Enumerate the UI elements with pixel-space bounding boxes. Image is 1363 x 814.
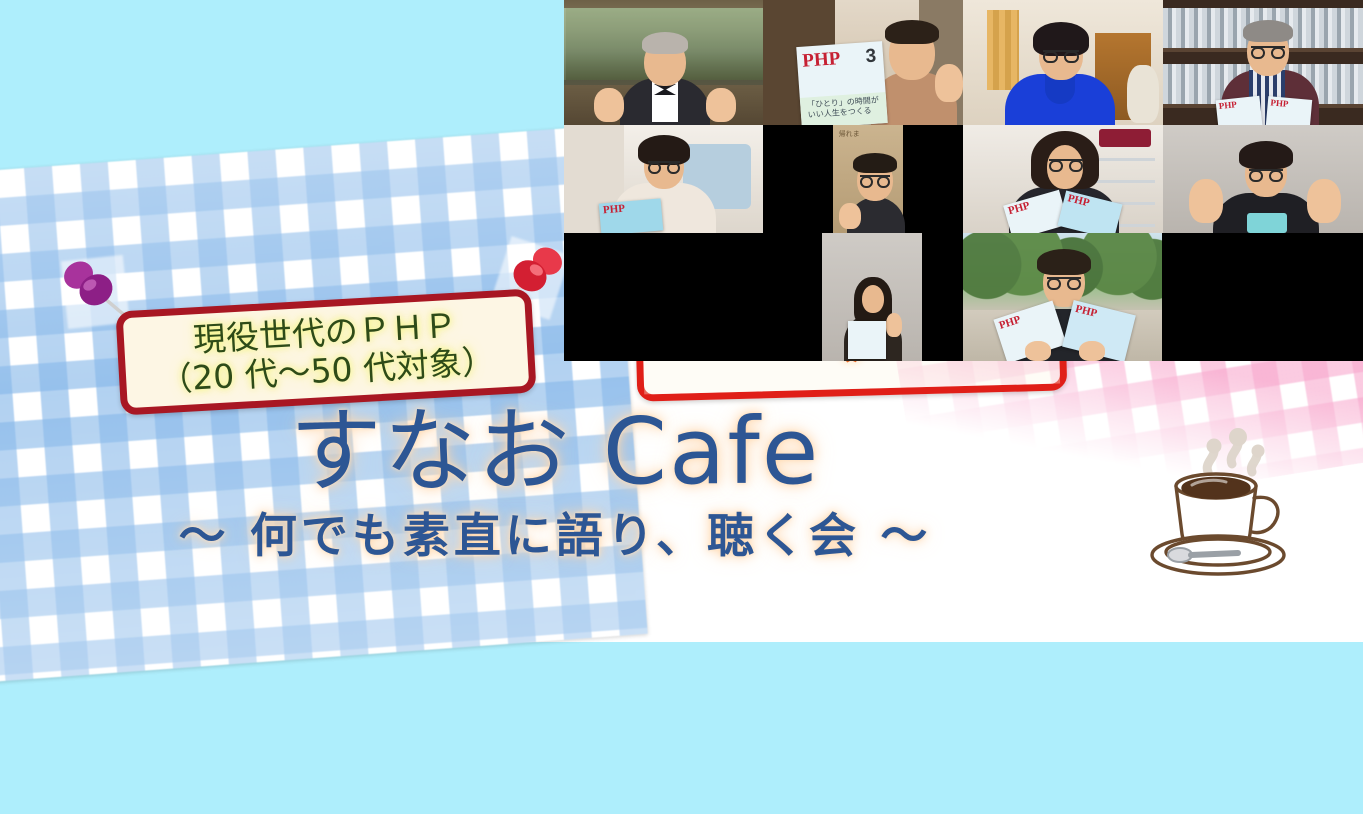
- glasses-icon: [860, 175, 890, 177]
- peace-sign-hand: [886, 313, 902, 337]
- empty-tile: [1162, 233, 1363, 361]
- empty-tile: [564, 233, 822, 361]
- blue-gingham-sheet: [0, 125, 648, 685]
- video-tile-p4[interactable]: PHP PHP: [1163, 0, 1363, 125]
- raised-hand: [706, 88, 736, 122]
- magazine-brand: PHP: [1066, 193, 1090, 209]
- participant-hair: [853, 153, 897, 173]
- empty-tile: [922, 233, 963, 361]
- magazine-brand: PHP: [998, 314, 1022, 331]
- ribbon-left-text: 現役世代のＰＨＰ （20 代〜50 代対象）: [156, 304, 496, 399]
- hand: [1025, 341, 1051, 361]
- coffee-cup-icon: [1146, 424, 1316, 579]
- background-band-bottom: [0, 642, 1363, 814]
- raised-hand: [1307, 179, 1341, 223]
- video-tile-p5[interactable]: PHP: [564, 125, 763, 233]
- video-row-1: PHP 3 「ひとり」の時間が いい人生をつくる: [564, 0, 1363, 125]
- video-row-3: PHP PHP: [564, 233, 1363, 361]
- glasses-icon: [1249, 169, 1283, 171]
- video-tile-p10[interactable]: PHP PHP: [963, 233, 1162, 361]
- video-tile-p2[interactable]: PHP 3 「ひとり」の時間が いい人生をつくる: [763, 0, 963, 125]
- video-tile-p9[interactable]: [822, 233, 922, 361]
- hand: [839, 203, 861, 229]
- video-tile-p6[interactable]: 帰れま: [763, 125, 963, 233]
- php-magazine: PHP 3 「ひとり」の時間が いい人生をつくる: [796, 41, 888, 125]
- magazine-brand: PHP: [603, 203, 626, 216]
- pillarbox-right: [903, 125, 963, 233]
- video-tile-p1[interactable]: [564, 0, 763, 125]
- magazine-brand: PHP: [802, 49, 841, 71]
- raised-hand: [935, 64, 963, 102]
- video-row-2: PHP 帰れま: [564, 125, 1363, 233]
- shirt-graphic: [1247, 213, 1287, 233]
- participant-hair: [642, 32, 688, 54]
- magazine-brand: PHP: [1007, 201, 1031, 218]
- video-tile-p7[interactable]: PHP PHP: [963, 125, 1163, 233]
- participant-hair: [1037, 249, 1091, 275]
- participant-hair: [1239, 141, 1293, 169]
- php-magazine: PHP: [1266, 96, 1312, 125]
- glasses-icon: [648, 161, 680, 163]
- raised-hand: [594, 88, 624, 122]
- magazine-brand: PHP: [1074, 304, 1098, 320]
- php-magazine: [848, 321, 886, 359]
- hand: [1079, 341, 1105, 361]
- raised-hand: [1189, 179, 1223, 223]
- face: [862, 285, 884, 313]
- video-tile-p3[interactable]: [963, 0, 1163, 125]
- participant-hair: [885, 20, 939, 44]
- video-tile-p8[interactable]: [1163, 125, 1363, 233]
- php-magazine: PHP: [599, 198, 664, 233]
- glasses-icon: [1047, 277, 1081, 279]
- poster-canvas: すなお Cafe 〜 何でも素直に語り、聴く会 〜: [0, 0, 1363, 814]
- glasses-icon: [1043, 50, 1079, 52]
- glasses-icon: [1049, 159, 1083, 161]
- magazine-issue: 3: [865, 46, 877, 69]
- php-magazine: PHP: [1216, 96, 1263, 125]
- glasses-icon: [1251, 46, 1285, 48]
- magazine-brand: PHP: [1270, 98, 1289, 109]
- video-conference-grid[interactable]: PHP 3 「ひとり」の時間が いい人生をつくる: [564, 0, 1363, 361]
- participant-hair: [1243, 20, 1293, 42]
- magazine-brand: PHP: [1218, 100, 1237, 111]
- pillarbox-left: [763, 125, 833, 233]
